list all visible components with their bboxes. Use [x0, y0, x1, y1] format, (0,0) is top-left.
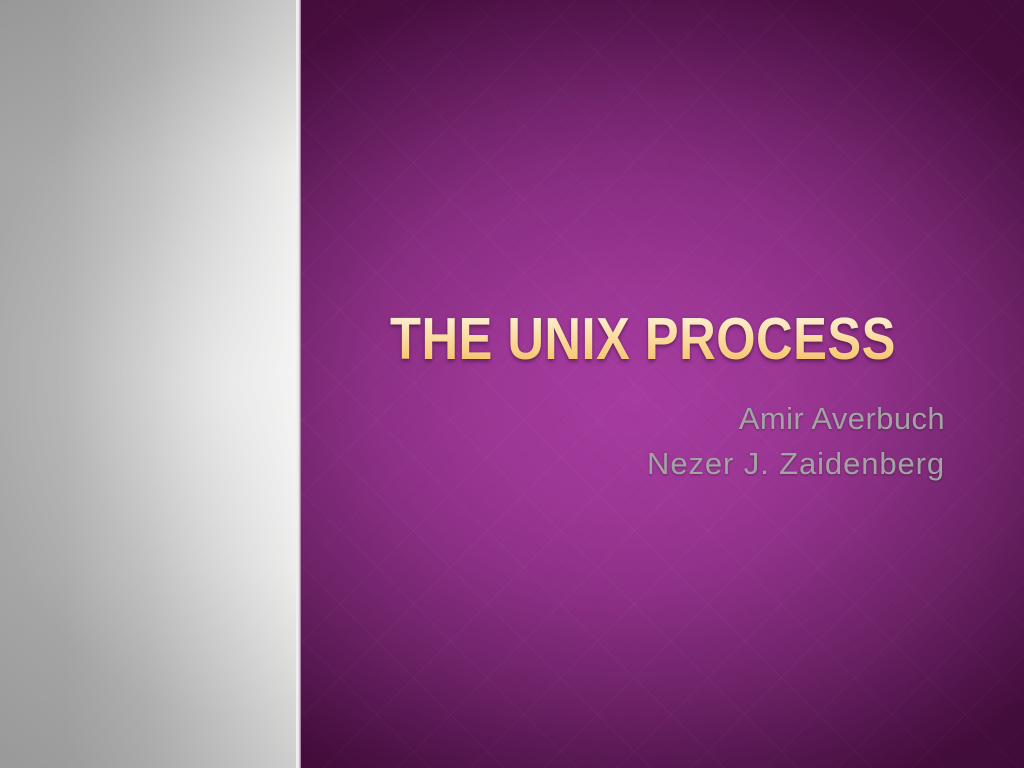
left-gray-band — [0, 0, 296, 768]
purple-background-panel — [301, 0, 1024, 768]
presentation-slide: The Unix Process Amir Averbuch Nezer J. … — [0, 0, 1024, 768]
panel-vignette-overlay — [301, 0, 1024, 768]
argyle-texture-overlay — [301, 0, 1024, 768]
left-band-sheen — [0, 0, 296, 768]
